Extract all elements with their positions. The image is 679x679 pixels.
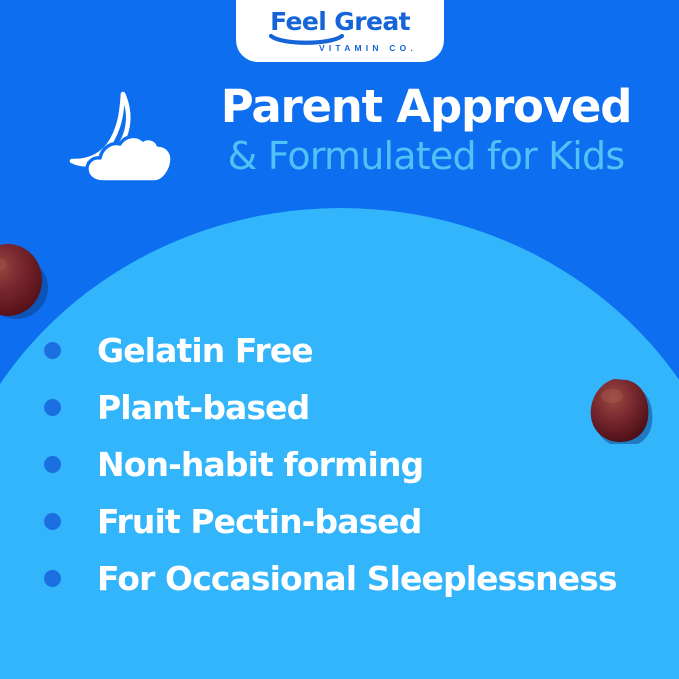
hero-heading-group: Parent Approved & Formulated for Kids	[196, 84, 656, 177]
bullet-dot-icon	[44, 342, 61, 359]
bullet-dot-icon	[44, 513, 61, 530]
feature-label: Gelatin Free	[97, 334, 313, 367]
bullet-dot-icon	[44, 456, 61, 473]
feature-list: Gelatin Free Plant-based Non-habit formi…	[44, 322, 664, 607]
feature-label: Fruit Pectin-based	[97, 505, 422, 538]
bullet-dot-icon	[44, 570, 61, 587]
feature-label: Plant-based	[97, 391, 309, 424]
feature-label: Non-habit forming	[97, 448, 423, 481]
gummy-candy-left	[0, 240, 48, 320]
product-feature-graphic: Feel Great VITAMIN CO. Parent Approved &…	[0, 0, 679, 679]
list-item: Fruit Pectin-based	[44, 493, 664, 550]
crescent-moon-with-cloud-icon	[60, 88, 184, 192]
bullet-dot-icon	[44, 399, 61, 416]
page-title: Parent Approved	[196, 84, 656, 129]
brand-wordmark: Feel Great	[270, 9, 410, 34]
list-item: Non-habit forming	[44, 436, 664, 493]
list-item: Gelatin Free	[44, 322, 664, 379]
list-item: For Occasional Sleeplessness	[44, 550, 664, 607]
list-item: Plant-based	[44, 379, 664, 436]
brand-logo-badge[interactable]: Feel Great VITAMIN CO.	[236, 0, 444, 62]
feature-label: For Occasional Sleeplessness	[97, 562, 617, 595]
page-subtitle: & Formulated for Kids	[196, 137, 656, 177]
smile-swoosh-icon	[236, 35, 444, 44]
